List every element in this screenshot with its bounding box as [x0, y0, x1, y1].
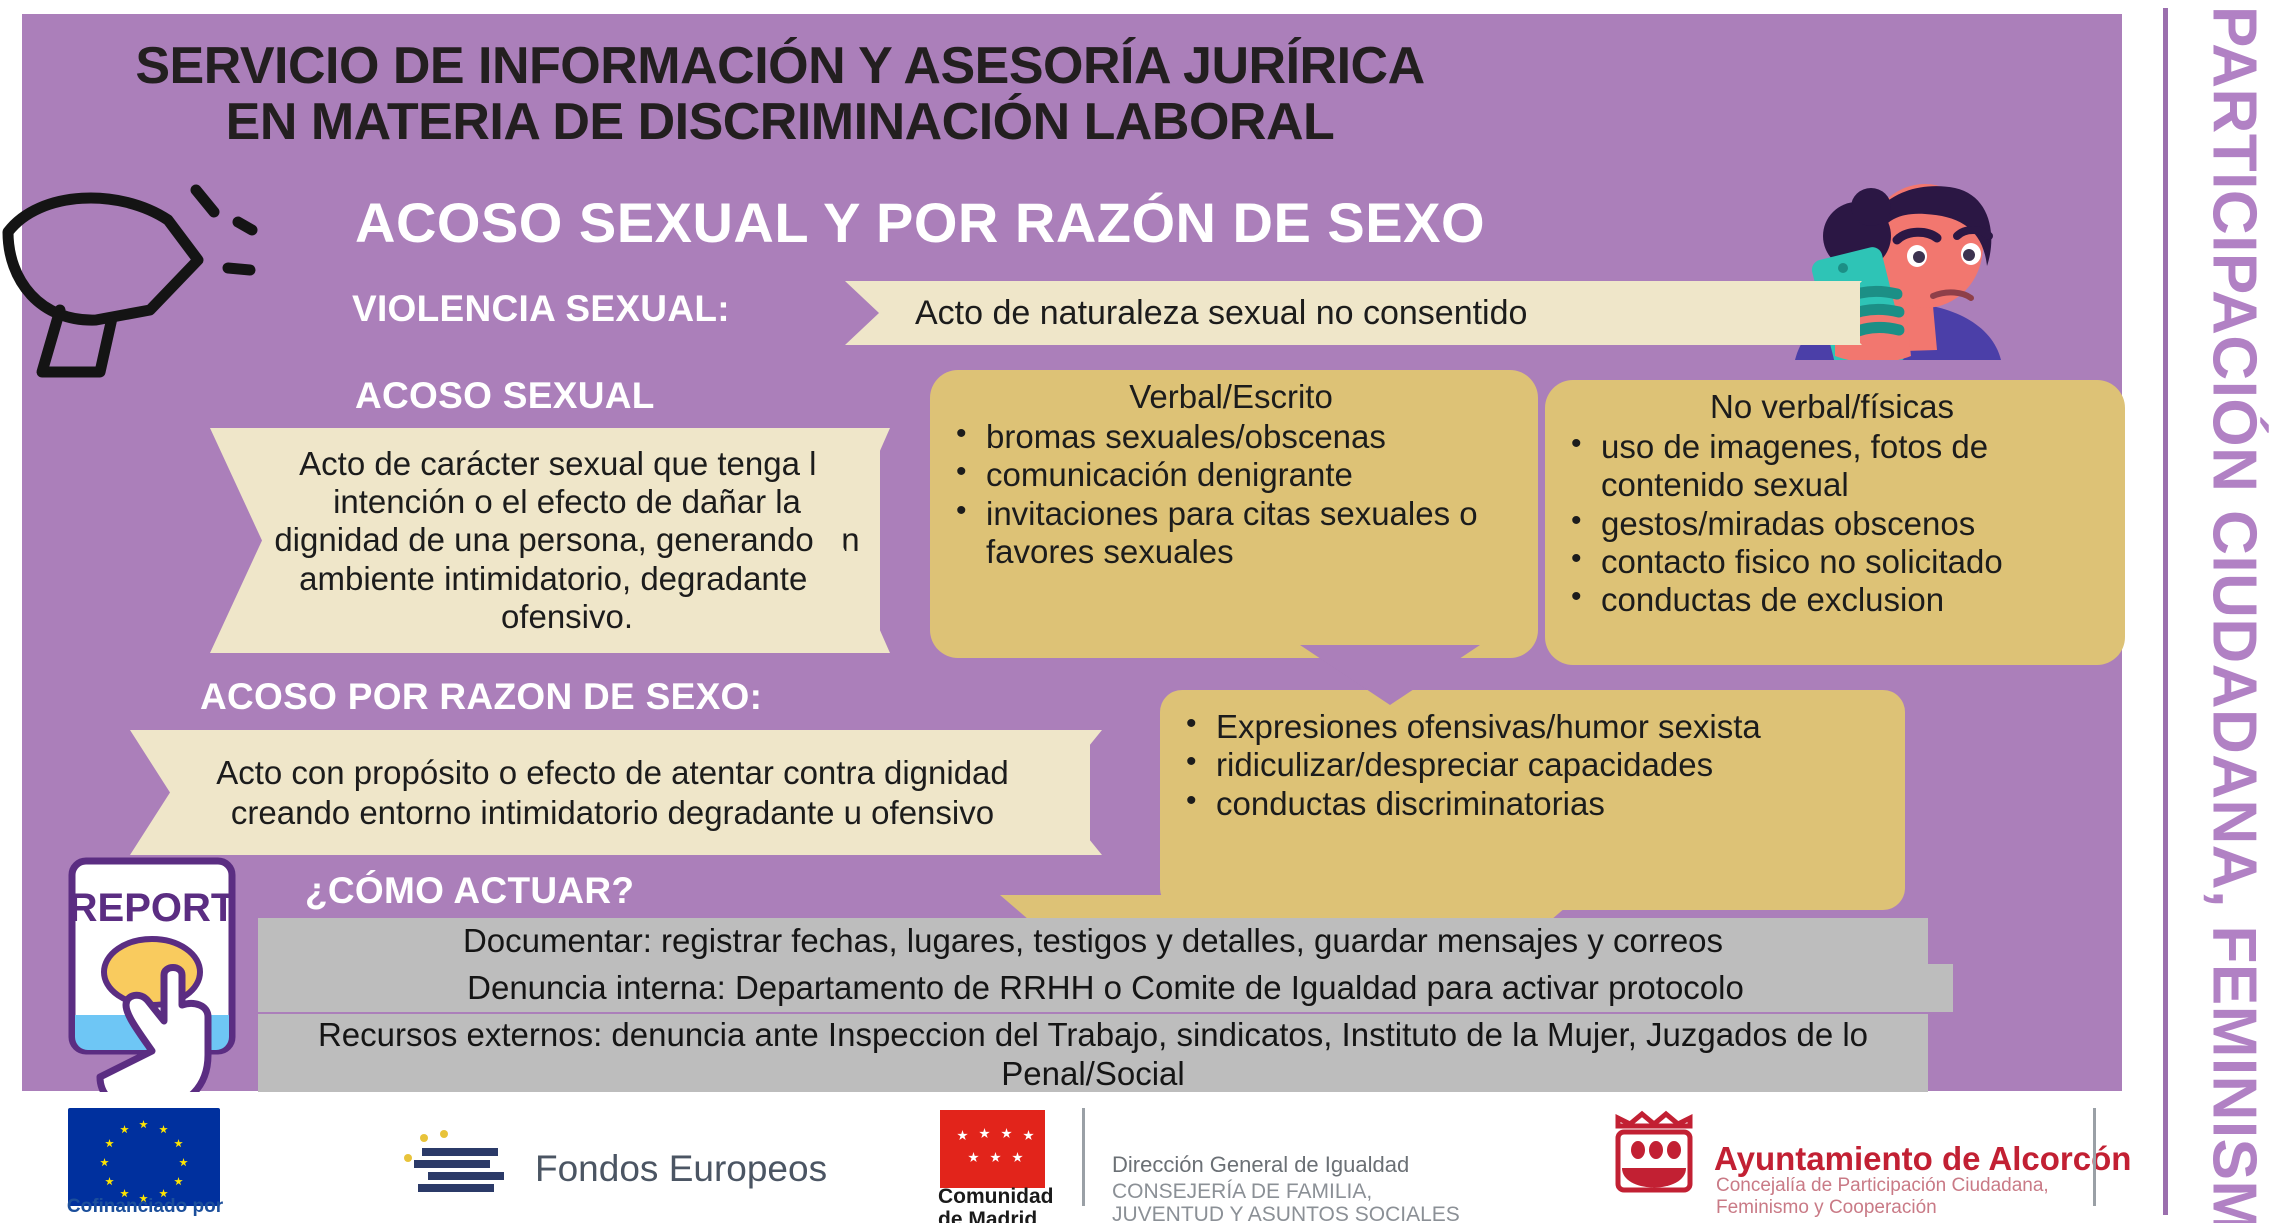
- list-item: bromas sexuales/obscenas: [934, 418, 1528, 456]
- violencia-sexual-ribbon: Acto de naturaleza sexual no consentido: [845, 281, 1860, 345]
- category-card-verbal: Verbal/Escrito bromas sexuales/obscenas …: [930, 370, 1538, 658]
- page-title-line2: EN MATERIA DE DISCRIMINACIÓN LABORAL: [120, 94, 1440, 150]
- side-divider: [2163, 8, 2168, 1215]
- action-step-denuncia-interna: Denuncia interna: Departamento de RRHH o…: [258, 964, 1953, 1012]
- list-item: conductas de exclusion: [1549, 581, 2115, 619]
- list-item: contacto fisico no solicitado: [1549, 543, 2115, 581]
- category-list-no-verbal: uso de imagenes, fotos de contenido sexu…: [1549, 428, 2115, 619]
- consejeria-label: CONSEJERÍA DE FAMILIA, JUVENTUD Y ASUNTO…: [1112, 1180, 1460, 1223]
- list-item: uso de imagenes, fotos de contenido sexu…: [1549, 428, 2115, 505]
- acoso-sexual-label: ACOSO SEXUAL: [355, 375, 655, 417]
- eu-flag-logo: [68, 1108, 220, 1206]
- direccion-general-igualdad-label: Dirección General de Igualdad: [1112, 1152, 1409, 1178]
- alcorcon-shield-icon: [1608, 1108, 1704, 1196]
- action-step-documentar: Documentar: registrar fechas, lugares, t…: [258, 918, 1928, 964]
- list-item: comunicación denigrante: [934, 456, 1528, 494]
- action-step-recursos-externos: Recursos externos: denuncia ante Inspecc…: [258, 1014, 1928, 1096]
- fondos-europeos-label: Fondos Europeos: [535, 1148, 827, 1190]
- side-branding-label: PARTICIPACIÓN CIUDADANA, FEMINISMO Y MAY…: [2199, 6, 2270, 1223]
- fondos-europeos-icon: [392, 1128, 522, 1198]
- comunidad-madrid-line1: Comunidad: [938, 1186, 1054, 1209]
- eu-flag-caption: Cofinanciado por: [60, 1196, 230, 1218]
- list-item: conductas discriminatorias: [1164, 785, 1895, 823]
- category-card-no-verbal: No verbal/físicas uso de imagenes, fotos…: [1545, 380, 2125, 665]
- category-heading-verbal: Verbal/Escrito: [934, 378, 1528, 416]
- acoso-razon-sexo-ribbon: Acto con propósito o efecto de atentar c…: [130, 730, 1090, 855]
- alcorcon-subtitle: Concejalía de Participación Ciudadana, F…: [1716, 1175, 2049, 1219]
- category-heading-no-verbal: No verbal/físicas: [1549, 388, 2115, 426]
- alcorcon-subtitle-line2: Feminismo y Cooperación: [1716, 1197, 2049, 1219]
- svg-text:REPORT: REPORT: [69, 886, 236, 930]
- category-card-expresiones: Expresiones ofensivas/humor sexista ridi…: [1160, 690, 1905, 910]
- comunidad-madrid-logo: [940, 1110, 1045, 1188]
- comunidad-madrid-caption: Comunidad de Madrid: [938, 1186, 1054, 1223]
- list-item: invitaciones para citas sexuales o favor…: [934, 495, 1528, 572]
- megaphone-icon: [0, 160, 330, 380]
- consejeria-line2: JUVENTUD Y ASUNTOS SOCIALES: [1112, 1203, 1460, 1223]
- side-branding-text: PARTICIPACIÓN CIUDADANA, FEMINISMO Y MAY…: [2176, 6, 2292, 1216]
- category-list-expresiones: Expresiones ofensivas/humor sexista ridi…: [1164, 708, 1895, 823]
- category-list-verbal: bromas sexuales/obscenas comunicación de…: [934, 418, 1528, 571]
- alcorcon-subtitle-line1: Concejalía de Participación Ciudadana,: [1716, 1175, 2049, 1197]
- consejeria-line1: CONSEJERÍA DE FAMILIA,: [1112, 1180, 1460, 1203]
- acoso-razon-sexo-label: ACOSO POR RAZON DE SEXO:: [200, 676, 762, 718]
- footer-divider-madrid: [1082, 1108, 1085, 1206]
- page-title: SERVICIO DE INFORMACIÓN Y ASESORÍA JURÍR…: [120, 38, 1440, 150]
- list-item: ridiculizar/despreciar capacidades: [1164, 746, 1895, 784]
- violencia-sexual-label: VIOLENCIA SEXUAL:: [352, 288, 730, 330]
- comunidad-madrid-line2: de Madrid: [938, 1209, 1054, 1223]
- poster-root: SERVICIO DE INFORMACIÓN Y ASESORÍA JURÍR…: [0, 0, 2294, 1223]
- list-item: gestos/miradas obscenos: [1549, 505, 2115, 543]
- acoso-sexual-ribbon: Acto de carácter sexual que tenga la int…: [210, 428, 880, 653]
- list-item: Expresiones ofensivas/humor sexista: [1164, 708, 1895, 746]
- como-actuar-label: ¿CÓMO ACTUAR?: [305, 870, 634, 912]
- alcorcon-title: Ayuntamiento de Alcorcón: [1714, 1140, 2131, 1178]
- footer-divider-alcorcon: [2093, 1108, 2096, 1206]
- page-subtitle: ACOSO SEXUAL Y POR RAZÓN DE SEXO: [355, 190, 1485, 255]
- page-title-line1: SERVICIO DE INFORMACIÓN Y ASESORÍA JURÍR…: [135, 37, 1424, 95]
